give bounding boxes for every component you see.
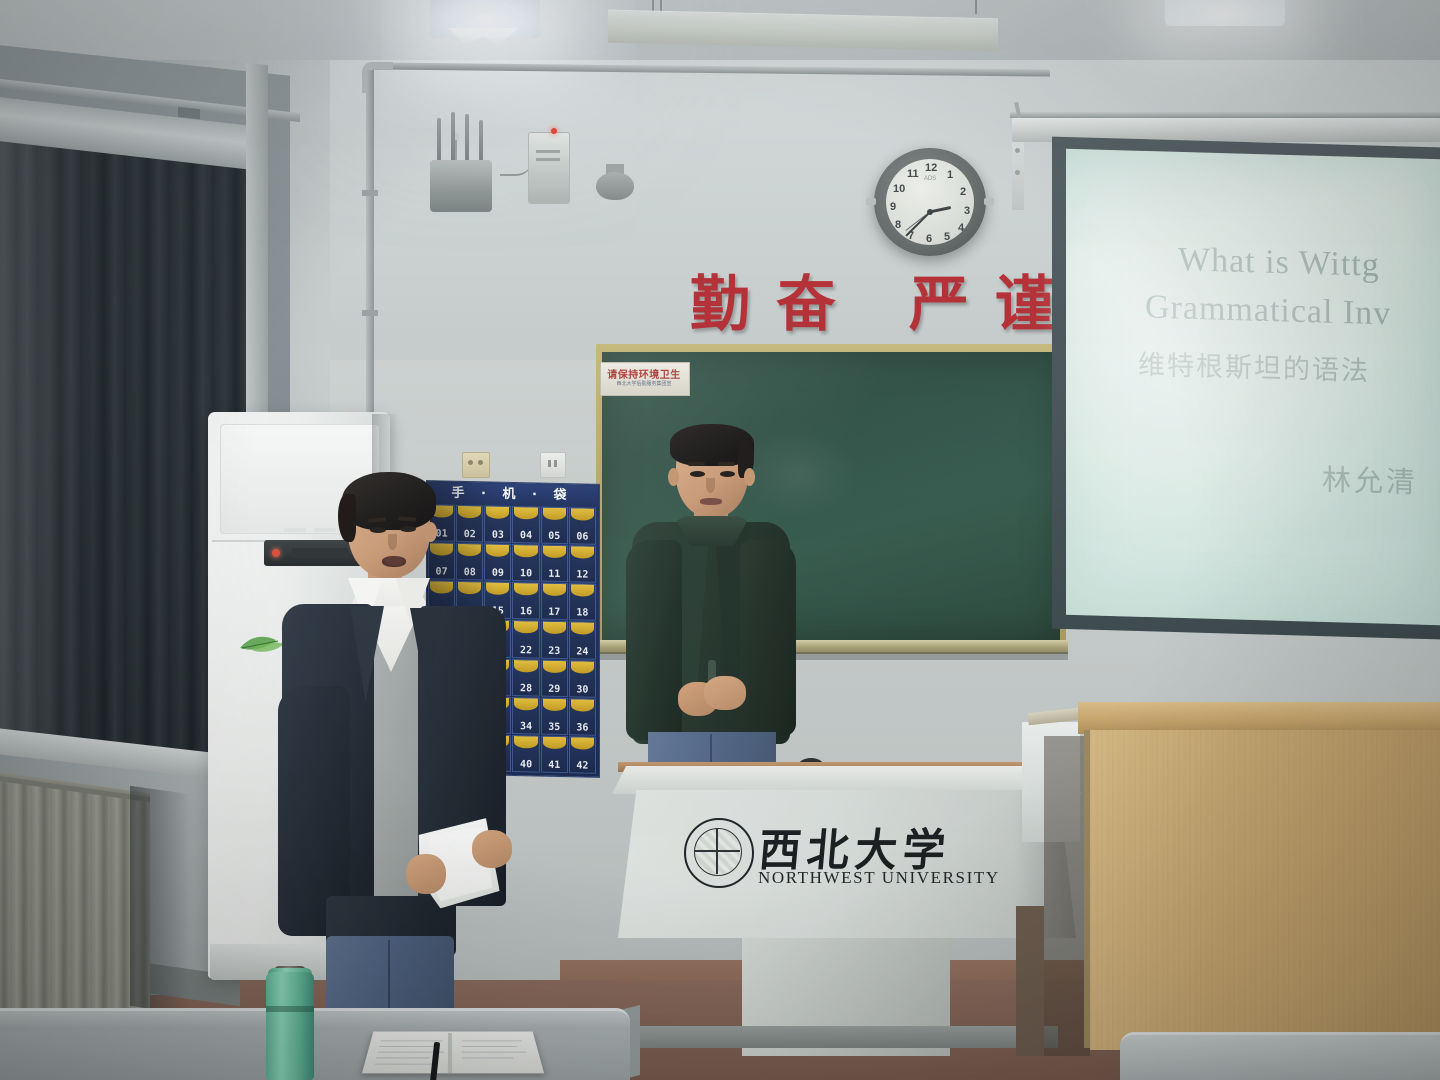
seal-divider [694,850,740,852]
radiator [0,775,150,1032]
phone-pocket-number: 42 [570,760,595,772]
phone-pocket[interactable]: 11 [541,545,568,583]
wall-socket-white[interactable] [540,452,566,478]
phone-pocket-number: 29 [542,683,567,695]
jammer-antenna-icon [437,118,441,162]
pipe-clip [362,190,378,196]
phone-pocket[interactable]: 42 [569,736,596,774]
clock-brand-label: ADS [912,176,948,184]
hand-right [704,676,746,710]
nose [388,534,397,550]
eye [370,527,386,533]
hair [342,472,436,530]
phone-pocket-number: 10 [513,568,538,580]
hygiene-sign-subtitle: 西北大学后勤服务集团宣 [604,380,684,389]
slide-subtitle-chinese: 维特根斯坦的语法 [1138,343,1370,388]
socket-hole [468,460,473,465]
phone-pocket-number: 22 [513,645,538,657]
clock-numeral: 10 [893,183,905,195]
phone-pocket-number: 36 [570,722,595,734]
clock-numeral: 9 [890,201,896,213]
phone-pocket[interactable]: 10 [512,544,539,582]
foreground-desk-right [1120,1032,1440,1080]
phone-pocket[interactable]: 34 [512,697,539,735]
phone-pocket-number: 34 [513,721,538,733]
socket-slot [548,460,551,467]
phone-pocket-number: 17 [542,607,567,619]
jammer-antenna-icon [451,112,455,162]
mouth [700,498,722,505]
arm-left [626,540,682,740]
control-box-slot [536,150,560,153]
phone-pocket-number: 28 [513,683,538,695]
university-seal-inner [694,828,742,876]
clock-numeral: 4 [958,222,964,234]
phone-pocket-number: 16 [513,606,538,618]
phone-pocket-number: 06 [570,531,595,543]
projection-screen [1066,149,1440,625]
pipe-clip [362,310,378,316]
phone-pocket[interactable]: 29 [541,659,568,697]
clock-numeral: 5 [944,231,950,243]
podium-foot [626,1026,1058,1048]
eyebrow [688,462,705,466]
radiator-shadow [130,786,190,1014]
phone-pocket[interactable]: 35 [541,697,568,735]
wood-grain [1090,730,1440,1050]
clock-numeral: 6 [926,233,932,245]
phone-pocket-number: 18 [570,608,595,620]
wall-control-box [528,132,570,204]
eye [720,471,735,477]
notebook-spine [448,1033,452,1073]
socket-slot [554,460,557,467]
ceiling-light-right [1165,0,1285,26]
clock-bracket [866,198,876,205]
phone-pocket[interactable]: 18 [569,583,596,621]
ear [744,468,755,486]
desk-gap-shadow [1016,906,1044,1056]
clock-numeral: 3 [964,205,970,217]
ear [668,468,679,486]
slide-title-line1: What is Wittg [1178,241,1380,285]
person-center-man [620,424,800,784]
screen-bracket-screw [1015,170,1020,175]
hygiene-sign-title: 请保持环境卫生 [604,366,684,378]
phone-pocket[interactable]: 17 [541,583,568,621]
podium-top [612,766,1082,794]
phone-pocket[interactable]: 40 [512,735,539,773]
screen-bracket-screw [1015,148,1020,153]
clock-numeral: 12 [925,162,937,174]
mouth-speaking [382,556,406,567]
phone-pocket[interactable]: 30 [569,660,596,698]
control-box-led-icon [551,128,557,134]
phone-pocket-number: 05 [542,531,567,543]
control-box-slot [536,158,560,161]
classroom-photo: 12 1 2 3 4 5 6 7 8 9 10 11 ADS 勤奋 严谨 请保持… [0,0,1440,1080]
thermos-band [266,1006,314,1012]
thermos-flask [266,972,314,1080]
socket-hole [478,460,483,465]
eye [690,471,705,477]
hand-right [472,830,512,868]
phone-pocket[interactable]: 06 [569,507,596,545]
phone-pocket-number: 23 [542,645,567,657]
podium-university-name-chinese: 西北大学 [758,815,1030,866]
phone-pocket-number: 40 [513,759,538,771]
phone-pocket-number: 41 [542,760,567,772]
phone-pocket-number: 04 [513,530,538,542]
phone-pocket[interactable]: 22 [512,620,539,658]
hand-left [406,854,446,894]
light-hanger [975,0,977,14]
podium-university-name-english: NORTHWEST UNIVERSITY [758,868,1028,888]
phone-pocket[interactable]: 16 [512,582,539,620]
phone-pocket-number: 24 [570,646,595,658]
clock-bracket [984,198,994,205]
clock-center-pin [927,209,933,215]
eyebrow [718,462,735,466]
phone-pocket[interactable]: 24 [569,622,596,660]
phone-pocket[interactable]: 04 [512,506,539,544]
conduit-pipe-vertical [366,70,374,420]
phone-pocket[interactable]: 05 [541,507,568,545]
open-notebook [362,1031,544,1073]
phone-pocket-number: 30 [570,684,595,696]
signal-jammer [430,160,492,212]
hair-side [338,494,356,542]
nose [706,478,715,493]
slide-presenter-name: 林允清 [1322,457,1418,502]
phone-pocket-number: 11 [542,569,567,581]
ceiling-detector [596,172,634,200]
phone-pocket[interactable]: 12 [569,545,596,583]
jammer-antenna-icon [479,120,483,162]
phone-pocket[interactable]: 41 [541,735,568,773]
ear [424,522,437,542]
clock-numeral: 8 [895,219,901,231]
phone-pocket[interactable]: 36 [569,698,596,736]
phone-pocket-number: 12 [570,569,595,581]
slide-title-line2: Grammatical Inv [1145,289,1391,334]
phone-pocket[interactable]: 23 [541,621,568,659]
clock-numeral: 2 [960,186,966,198]
arm-right [740,540,796,736]
phone-pocket[interactable]: 28 [512,659,539,697]
eye [400,526,416,532]
phone-pocket-number: 35 [542,721,567,733]
jammer-antenna-icon [465,114,469,162]
